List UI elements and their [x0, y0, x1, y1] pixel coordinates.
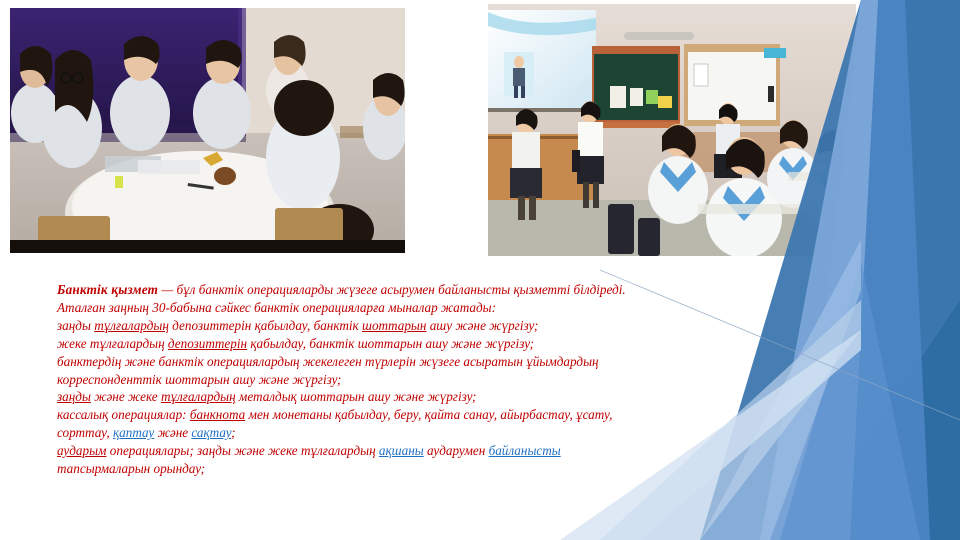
link-qaptau[interactable]: қаптау: [113, 425, 154, 440]
line9-c: ;: [231, 425, 235, 440]
text-line-4: жеке тұлғалардың депозиттерін қабылдау, …: [57, 335, 757, 353]
lead-rest: — бұл банктік операцияларды жүзеге асыру…: [158, 282, 626, 297]
text-line-6: корреспонденттік шоттарын ашу және жүргі…: [57, 371, 757, 389]
line4-b: қабылдау, банктік шоттарын ашу және жүрг…: [247, 336, 534, 351]
link-tulgalardyn-2[interactable]: тұлғалардың: [161, 389, 236, 404]
text-line-8: кассалық операциялар: банкнота мен монет…: [57, 406, 757, 424]
link-depozitterin[interactable]: депозиттерін: [168, 336, 247, 351]
text-line-9: сорттау, қаптау және сақтау;: [57, 424, 757, 442]
line10-a: операциялары; заңды және жеке тұлғаларды…: [106, 443, 378, 458]
line7-a: және жеке: [91, 389, 161, 404]
line8-a: кассалық операциялар:: [57, 407, 190, 422]
link-bailanysty[interactable]: байланысты: [489, 443, 561, 458]
line9-b: және: [154, 425, 191, 440]
presentation-slide: Банктік қызмет — бұл банктік операциялар…: [0, 0, 960, 540]
classroom-presentation-photo: [488, 4, 856, 256]
text-line-10: аударым операциялары; заңды және жеке тұ…: [57, 442, 757, 460]
line3-b: депозиттерін қабылдау, банктік: [169, 318, 362, 333]
link-aqshany[interactable]: ақшаны: [379, 443, 424, 458]
presentation-photo-graphic: [488, 4, 856, 256]
link-audarym[interactable]: аударым: [57, 443, 106, 458]
text-line-1: Банктік қызмет — бұл банктік операциялар…: [57, 281, 757, 299]
slide-body-text: Банктік қызмет — бұл банктік операциялар…: [57, 281, 757, 478]
link-zandy[interactable]: заңды: [57, 389, 91, 404]
text-line-3: заңды тұлғалардың депозиттерін қабылдау,…: [57, 317, 757, 335]
text-line-11: тапсырмаларын орындау;: [57, 460, 757, 478]
lead-term: Банктік қызмет: [57, 282, 158, 297]
line4-a: жеке тұлғалардың: [57, 336, 168, 351]
link-shottaryn-1[interactable]: шоттарын: [362, 318, 426, 333]
classroom-roundtable-photo: [10, 8, 405, 253]
facet-accent-blue: [780, 260, 920, 540]
text-line-5: банктердің және банктік операциялардың ж…: [57, 353, 757, 371]
line3-c: ашу және жүргізу;: [426, 318, 538, 333]
line10-b: аударумен: [424, 443, 489, 458]
link-tulgalardyn-1[interactable]: тұлғалардың: [94, 318, 169, 333]
roundtable-photo-graphic: [10, 8, 405, 253]
line8-b: мен монетаны қабылдау, беру, қайта санау…: [245, 407, 612, 422]
link-banknota[interactable]: банкнота: [190, 407, 245, 422]
line7-b: металдық шоттарын ашу және жүргізу;: [236, 389, 477, 404]
text-line-2: Аталған заңның 30-бабына сәйкес банктік …: [57, 299, 757, 317]
line9-a: сорттау,: [57, 425, 113, 440]
line3-a: заңды: [57, 318, 94, 333]
link-saqtau[interactable]: сақтау: [191, 425, 231, 440]
text-line-7: заңды және жеке тұлғалардың металдық шот…: [57, 388, 757, 406]
